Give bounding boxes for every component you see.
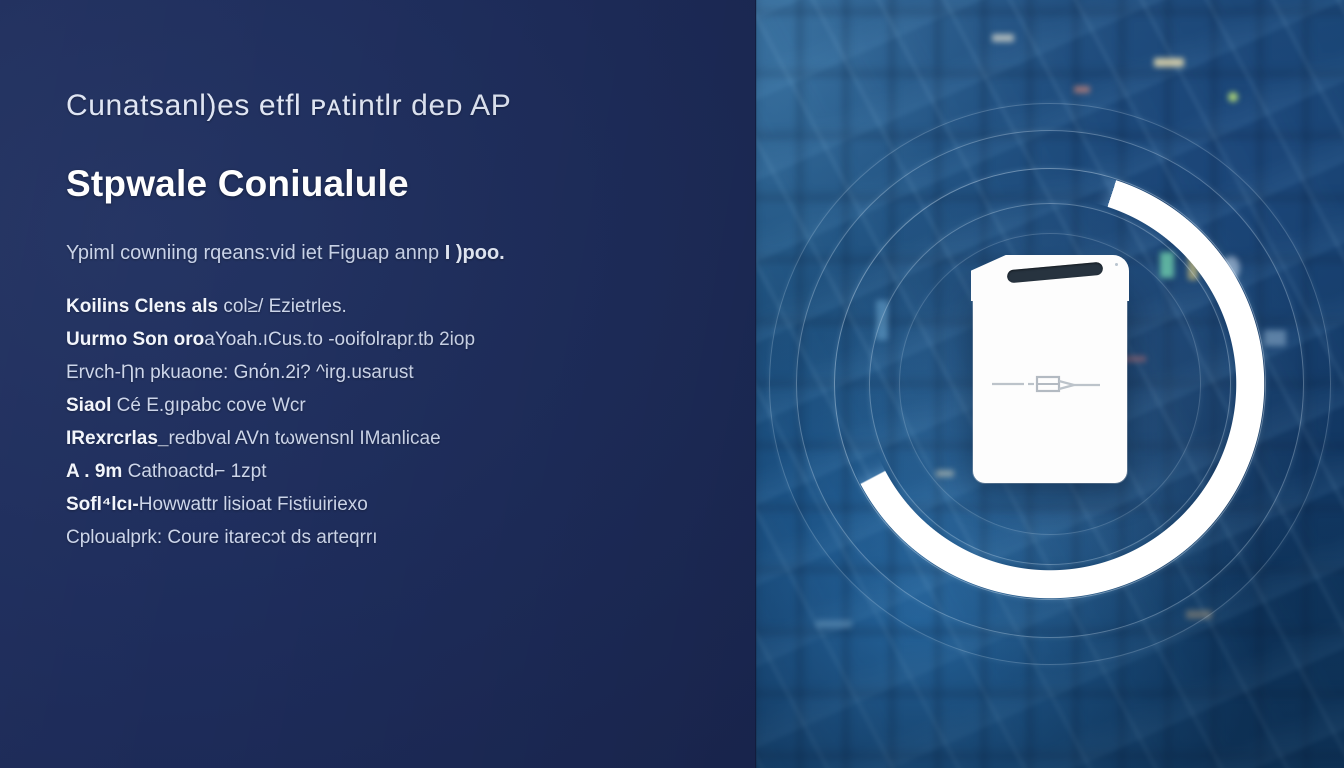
panel-divider	[755, 0, 757, 768]
feature-list: Koilins Clens als col≥/ Ezietrles. Uurmo…	[66, 290, 686, 554]
list-item: Ervch-Ƞn pkuaone: Gnόn.2i? ^irg.usarust	[66, 356, 686, 389]
plug-connector-icon	[990, 371, 1110, 397]
list-item: Koilins Clens als col≥/ Ezietrles.	[66, 290, 686, 323]
left-copy-panel: Cunatsanl)es etfl ᴘᴀtintlr deᴅ AP Stpwal…	[0, 0, 756, 768]
list-item-rest: Ervch-Ƞn pkuaone: Gnόn.2i? ^irg.usarust	[66, 362, 414, 383]
list-item: Siaol Cé E.gıpabc covе Wcr	[66, 389, 686, 422]
list-item-rest: redbval AVn tωwensnl IManlicae	[168, 428, 440, 449]
list-item: Cploualprk: Coure itarecɔt ds arteqrrı	[66, 521, 686, 554]
list-item-lead: IRexrcrlas_	[66, 428, 168, 449]
list-item-lead: Koilins Clens als	[66, 296, 218, 317]
list-item-rest: aYoah.ıCus.to -ooifolrapr.tb 2iop	[204, 329, 475, 350]
right-image-panel	[756, 0, 1344, 768]
list-item-lead: Uurmo Son oro	[66, 329, 204, 350]
list-item-rest: Cé E.gıpabc covе Wcr	[111, 395, 305, 416]
list-item-lead: Sofl⁴lcı-	[66, 494, 139, 515]
list-item-lead: Siaol	[66, 395, 111, 416]
card-cap-dot	[1115, 263, 1118, 266]
subtitle-plain: Ypiml cowniing rqeans:vid iet Figuap ann…	[66, 242, 445, 264]
list-item: Uurmo Son oroaYoah.ıCus.to -ooifolrapr.t…	[66, 323, 686, 356]
list-item: Sofl⁴lcı-Howwattr lisioat Fistiuiriеxo	[66, 488, 686, 521]
subtitle-emphasis: I )pοo.	[445, 242, 505, 264]
product-card	[973, 285, 1127, 483]
copy-block: Cunatsanl)es etfl ᴘᴀtintlr deᴅ AP Stpwal…	[66, 84, 686, 554]
list-item-rest: Cathoactd⌐ 1zpt	[122, 461, 266, 482]
eyebrow-text: Cunatsanl)es etfl ᴘᴀtintlr deᴅ AP	[66, 84, 686, 128]
list-item: A . 9m Cathoactd⌐ 1zpt	[66, 455, 686, 488]
page-title: Stpwale Coniualule	[66, 162, 686, 206]
list-item-rest: Cploualprk: Coure itarecɔt ds arteqrrı	[66, 527, 378, 548]
subtitle-text: Ypiml cowniing rqeans:vid iet Figuap ann…	[66, 238, 686, 268]
slide-canvas: Cunatsanl)es etfl ᴘᴀtintlr deᴅ AP Stpwal…	[0, 0, 1344, 768]
list-item-rest: col≥/ Ezietrles.	[218, 296, 347, 317]
list-item-rest: Howwattr lisioat Fistiuiriеxo	[139, 494, 368, 515]
list-item-lead: A . 9m	[66, 461, 122, 482]
list-item: IRexrcrlas_redbval AVn tωwensnl IManlica…	[66, 422, 686, 455]
